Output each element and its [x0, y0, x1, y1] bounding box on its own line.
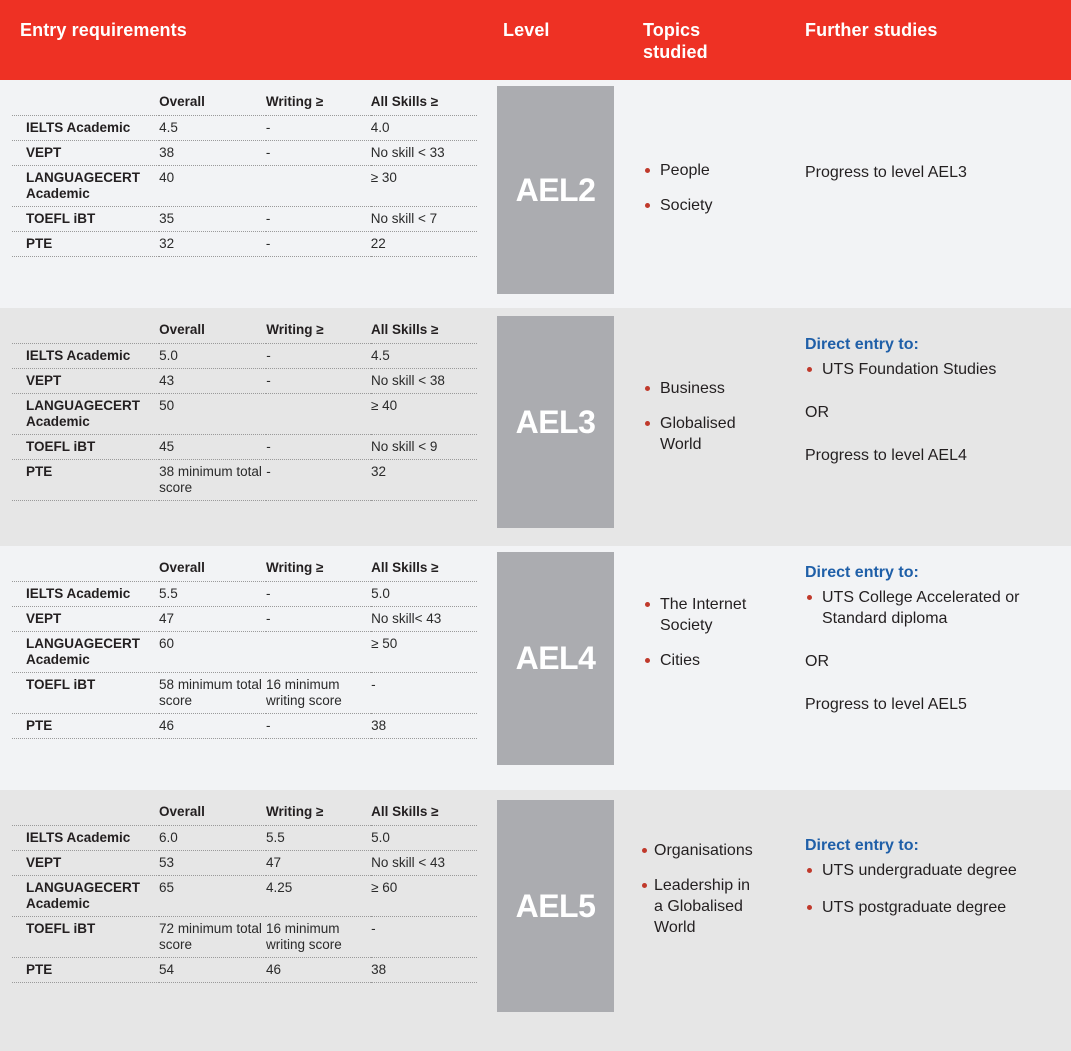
th-overall: Overall: [159, 322, 266, 344]
cell-overall: 58 minimum total score: [159, 673, 266, 714]
cell-overall: 43: [159, 369, 266, 394]
table-head: Overall Writing ≥ All Skills ≥: [12, 560, 477, 582]
topics-bullets: Organisations Leadership in a Globalised…: [640, 840, 758, 938]
direct-entry-heading: Direct entry to:: [805, 835, 1061, 856]
table-header-row: Overall Writing ≥ All Skills ≥: [12, 322, 477, 344]
table-header-row: Overall Writing ≥ All Skills ≥: [12, 804, 477, 826]
cell-all-skills: No skill < 9: [371, 435, 477, 460]
th-writing: Writing ≥: [266, 560, 371, 582]
cell-all-skills: 4.0: [371, 116, 477, 141]
column-header-further-studies: Further studies: [805, 19, 938, 41]
level-badge-ael5: AEL5: [497, 800, 614, 1012]
cell-overall: 5.0: [159, 344, 266, 369]
cell-all-skills: -: [371, 673, 477, 714]
cell-test: VEPT: [12, 141, 159, 166]
entry-requirements-table: Overall Writing ≥ All Skills ≥ IELTS Aca…: [12, 322, 477, 501]
cell-test: LANGUAGECERT Academic: [12, 876, 159, 917]
level-badge-ael2: AEL2: [497, 86, 614, 294]
cell-writing: -: [266, 207, 371, 232]
column-header-topics-studied: Topics studied: [643, 19, 763, 63]
level-row-ael3: Overall Writing ≥ All Skills ≥ IELTS Aca…: [0, 308, 1071, 546]
cell-writing: -: [266, 460, 371, 501]
direct-entry-heading: Direct entry to:: [805, 334, 1061, 355]
th-test: [12, 94, 159, 116]
table-body: IELTS Academic 5.5 - 5.0 VEPT 47 - No sk…: [12, 582, 477, 739]
list-item: The Internet Society: [643, 594, 753, 636]
further-studies-ael3: Direct entry to: UTS Foundation Studies …: [805, 334, 1061, 466]
direct-entry-bullets: UTS College Accelerated or Standard dipl…: [805, 587, 1061, 629]
table-header-row: Overall Writing ≥ All Skills ≥: [12, 560, 477, 582]
cell-all-skills: ≥ 30: [371, 166, 477, 207]
cell-test: IELTS Academic: [12, 116, 159, 141]
cell-writing: 5.5: [266, 826, 371, 851]
level-row-ael4: Overall Writing ≥ All Skills ≥ IELTS Aca…: [0, 546, 1071, 790]
list-item: Organisations: [640, 840, 758, 861]
table-row: LANGUAGECERT Academic 65 4.25 ≥ 60: [12, 876, 477, 917]
topics-list-ael4: The Internet Society Cities: [643, 594, 753, 685]
table-row: IELTS Academic 6.0 5.5 5.0: [12, 826, 477, 851]
list-item: Society: [643, 195, 753, 216]
cell-writing: -: [266, 582, 371, 607]
cell-test: VEPT: [12, 851, 159, 876]
cell-test: LANGUAGECERT Academic: [12, 394, 159, 435]
cell-overall: 40: [159, 166, 266, 207]
direct-entry-heading: Direct entry to:: [805, 562, 1061, 583]
topics-list-ael5: Organisations Leadership in a Globalised…: [640, 840, 758, 952]
table-row: VEPT 43 - No skill < 38: [12, 369, 477, 394]
cell-overall: 38 minimum total score: [159, 460, 266, 501]
further-studies-ael5: Direct entry to: UTS undergraduate degre…: [805, 835, 1061, 928]
table-row: LANGUAGECERT Academic 60 ≥ 50: [12, 632, 477, 673]
cell-test: IELTS Academic: [12, 344, 159, 369]
table-header-row: Overall Writing ≥ All Skills ≥: [12, 94, 477, 116]
cell-writing: -: [266, 435, 371, 460]
cell-test: PTE: [12, 958, 159, 983]
list-item: Globalised World: [643, 413, 753, 455]
cell-test: VEPT: [12, 369, 159, 394]
table-row: TOEFL iBT 58 minimum total score 16 mini…: [12, 673, 477, 714]
cell-all-skills: 5.0: [371, 582, 477, 607]
table-row: PTE 32 - 22: [12, 232, 477, 257]
cell-writing: -: [266, 232, 371, 257]
list-item: People: [643, 160, 753, 181]
topics-bullets: Business Globalised World: [643, 378, 753, 455]
cell-test: IELTS Academic: [12, 826, 159, 851]
cell-test: VEPT: [12, 607, 159, 632]
table-row: TOEFL iBT 35 - No skill < 7: [12, 207, 477, 232]
cell-all-skills: -: [371, 917, 477, 958]
cell-writing: 46: [266, 958, 371, 983]
table-row: PTE 38 minimum total score - 32: [12, 460, 477, 501]
cell-overall: 50: [159, 394, 266, 435]
list-item: Leadership in a Globalised World: [640, 875, 758, 938]
direct-entry-bullets: UTS Foundation Studies: [805, 359, 1061, 380]
th-all-skills: All Skills ≥: [371, 94, 477, 116]
cell-all-skills: No skill < 7: [371, 207, 477, 232]
cell-overall: 35: [159, 207, 266, 232]
cell-overall: 53: [159, 851, 266, 876]
cell-writing: -: [266, 344, 371, 369]
th-writing: Writing ≥: [266, 322, 371, 344]
table-row: PTE 46 - 38: [12, 714, 477, 739]
cell-overall: 47: [159, 607, 266, 632]
cell-overall: 45: [159, 435, 266, 460]
cell-writing: 47: [266, 851, 371, 876]
table-head: Overall Writing ≥ All Skills ≥: [12, 322, 477, 344]
or-text: OR: [805, 651, 1061, 672]
table-row: IELTS Academic 4.5 - 4.0: [12, 116, 477, 141]
table-row: TOEFL iBT 72 minimum total score 16 mini…: [12, 917, 477, 958]
cell-writing: 16 minimum writing score: [266, 673, 371, 714]
cell-all-skills: No skill < 38: [371, 369, 477, 394]
table-row: VEPT 47 - No skill< 43: [12, 607, 477, 632]
table-body: IELTS Academic 4.5 - 4.0 VEPT 38 - No sk…: [12, 116, 477, 257]
topics-list-ael3: Business Globalised World: [643, 378, 753, 469]
further-studies-ael4: Direct entry to: UTS College Accelerated…: [805, 562, 1061, 715]
cell-all-skills: No skill < 43: [371, 851, 477, 876]
level-badge-ael3: AEL3: [497, 316, 614, 528]
cell-writing: [266, 394, 371, 435]
further-studies-ael2: Progress to level AEL3: [805, 162, 1061, 183]
list-item: UTS College Accelerated or Standard dipl…: [805, 587, 1061, 629]
th-overall: Overall: [159, 804, 266, 826]
entry-requirements-table: Overall Writing ≥ All Skills ≥ IELTS Aca…: [12, 94, 477, 257]
cell-writing: -: [266, 141, 371, 166]
th-test: [12, 322, 159, 344]
cell-all-skills: No skill < 33: [371, 141, 477, 166]
progress-text: Progress to level AEL4: [805, 445, 1061, 466]
list-item: Business: [643, 378, 753, 399]
cell-overall: 72 minimum total score: [159, 917, 266, 958]
cell-test: TOEFL iBT: [12, 207, 159, 232]
cell-overall: 60: [159, 632, 266, 673]
direct-entry-bullets: UTS undergraduate degree UTS postgraduat…: [805, 860, 1061, 918]
cell-test: PTE: [12, 714, 159, 739]
cell-writing: 4.25: [266, 876, 371, 917]
cell-overall: 65: [159, 876, 266, 917]
cell-all-skills: 38: [371, 714, 477, 739]
list-item: UTS postgraduate degree: [805, 897, 1061, 918]
table-row: IELTS Academic 5.5 - 5.0: [12, 582, 477, 607]
column-header-entry-requirements: Entry requirements: [20, 19, 187, 41]
table-row: VEPT 53 47 No skill < 43: [12, 851, 477, 876]
column-header-topics-line2: studied: [643, 42, 708, 62]
entry-requirements-table: Overall Writing ≥ All Skills ≥ IELTS Aca…: [12, 560, 477, 739]
progress-text: Progress to level AEL5: [805, 694, 1061, 715]
column-header-level: Level: [503, 19, 550, 41]
cell-all-skills: 38: [371, 958, 477, 983]
cell-test: LANGUAGECERT Academic: [12, 632, 159, 673]
cell-writing: [266, 166, 371, 207]
entry-requirements-table: Overall Writing ≥ All Skills ≥ IELTS Aca…: [12, 804, 477, 983]
list-item: Cities: [643, 650, 753, 671]
th-overall: Overall: [159, 94, 266, 116]
table-row: IELTS Academic 5.0 - 4.5: [12, 344, 477, 369]
progress-text: Progress to level AEL3: [805, 162, 1061, 183]
th-writing: Writing ≥: [266, 94, 371, 116]
cell-all-skills: 32: [371, 460, 477, 501]
level-row-ael5: Overall Writing ≥ All Skills ≥ IELTS Aca…: [0, 790, 1071, 1051]
cell-writing: -: [266, 116, 371, 141]
cell-test: IELTS Academic: [12, 582, 159, 607]
or-text: OR: [805, 402, 1061, 423]
cell-all-skills: 5.0: [371, 826, 477, 851]
cell-all-skills: ≥ 50: [371, 632, 477, 673]
th-test: [12, 804, 159, 826]
th-all-skills: All Skills ≥: [371, 804, 477, 826]
table-header-bar: Entry requirements Level Topics studied …: [0, 0, 1071, 80]
table-row: VEPT 38 - No skill < 33: [12, 141, 477, 166]
cell-overall: 54: [159, 958, 266, 983]
topics-list-ael2: People Society: [643, 160, 753, 230]
cell-writing: 16 minimum writing score: [266, 917, 371, 958]
cell-test: LANGUAGECERT Academic: [12, 166, 159, 207]
cell-all-skills: 4.5: [371, 344, 477, 369]
cell-overall: 6.0: [159, 826, 266, 851]
th-test: [12, 560, 159, 582]
table-head: Overall Writing ≥ All Skills ≥: [12, 804, 477, 826]
cell-all-skills: ≥ 60: [371, 876, 477, 917]
list-item: UTS undergraduate degree: [805, 860, 1061, 881]
cell-test: TOEFL iBT: [12, 917, 159, 958]
table-row: LANGUAGECERT Academic 40 ≥ 30: [12, 166, 477, 207]
cell-overall: 32: [159, 232, 266, 257]
cell-overall: 5.5: [159, 582, 266, 607]
cell-writing: [266, 632, 371, 673]
th-all-skills: All Skills ≥: [371, 322, 477, 344]
table-head: Overall Writing ≥ All Skills ≥: [12, 94, 477, 116]
th-overall: Overall: [159, 560, 266, 582]
list-item: UTS Foundation Studies: [805, 359, 1061, 380]
cell-test: TOEFL iBT: [12, 435, 159, 460]
level-row-ael2: Overall Writing ≥ All Skills ≥ IELTS Aca…: [0, 80, 1071, 308]
cell-all-skills: 22: [371, 232, 477, 257]
th-writing: Writing ≥: [266, 804, 371, 826]
cell-all-skills: No skill< 43: [371, 607, 477, 632]
cell-writing: -: [266, 369, 371, 394]
cell-test: PTE: [12, 232, 159, 257]
cell-overall: 46: [159, 714, 266, 739]
cell-test: TOEFL iBT: [12, 673, 159, 714]
th-all-skills: All Skills ≥: [371, 560, 477, 582]
table-row: LANGUAGECERT Academic 50 ≥ 40: [12, 394, 477, 435]
level-badge-ael4: AEL4: [497, 552, 614, 765]
cell-writing: -: [266, 607, 371, 632]
table-body: IELTS Academic 6.0 5.5 5.0 VEPT 53 47 No…: [12, 826, 477, 983]
table-row: TOEFL iBT 45 - No skill < 9: [12, 435, 477, 460]
cell-writing: -: [266, 714, 371, 739]
topics-bullets: The Internet Society Cities: [643, 594, 753, 671]
topics-bullets: People Society: [643, 160, 753, 216]
cell-overall: 38: [159, 141, 266, 166]
cell-all-skills: ≥ 40: [371, 394, 477, 435]
cell-test: PTE: [12, 460, 159, 501]
table-body: IELTS Academic 5.0 - 4.5 VEPT 43 - No sk…: [12, 344, 477, 501]
table-row: PTE 54 46 38: [12, 958, 477, 983]
column-header-topics-line1: Topics: [643, 20, 700, 40]
cell-overall: 4.5: [159, 116, 266, 141]
